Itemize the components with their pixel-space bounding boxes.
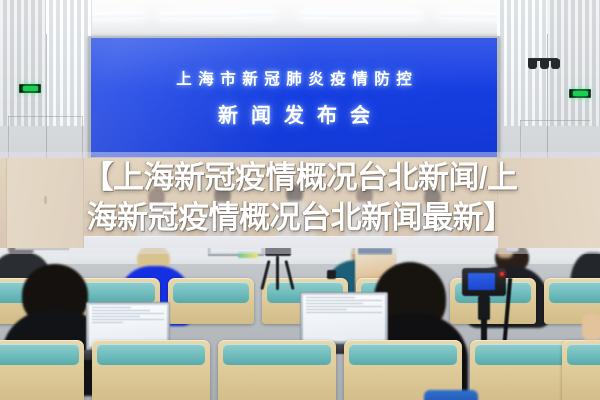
chair [0,340,84,400]
ceiling-light-icon [300,12,420,18]
chair [218,340,336,400]
seated-item [424,390,478,400]
raised-hand [582,314,600,340]
wall-seam [46,34,47,160]
desk-device [327,270,336,279]
caption-overlay: 【上海新冠疫情概况台北新闻/上 海新冠疫情概况台北新闻最新】 [0,158,600,238]
led-screen-line2: 新闻发布会 [91,99,497,128]
chair [168,278,254,324]
wall-panel [0,0,46,126]
wall-door-edge [520,120,590,121]
spotlight-icon [528,59,537,69]
caption-line-2: 海新冠疫情概况台北新闻最新】 [0,198,600,238]
emergency-exit-icon [569,89,591,98]
chair [92,340,210,400]
chair [562,340,600,400]
led-screen: 上海市新冠肺炎疫情防控 新闻发布会 [91,38,497,157]
emergency-exit-icon [19,84,41,93]
wall-seam [547,34,548,160]
spotlight-icon [551,59,560,69]
audience-area [0,248,600,400]
caption-line-1: 【上海新冠疫情概况台北新闻/上 [0,158,600,198]
spotlight-icon [540,59,549,69]
led-screen-line1: 上海市新冠肺炎疫情防控 [91,67,497,89]
wall-door-edge [8,116,82,117]
wall-panel [46,0,92,126]
press-conference-photo: 上海市新冠肺炎疫情防控 新闻发布会 [0,0,600,400]
